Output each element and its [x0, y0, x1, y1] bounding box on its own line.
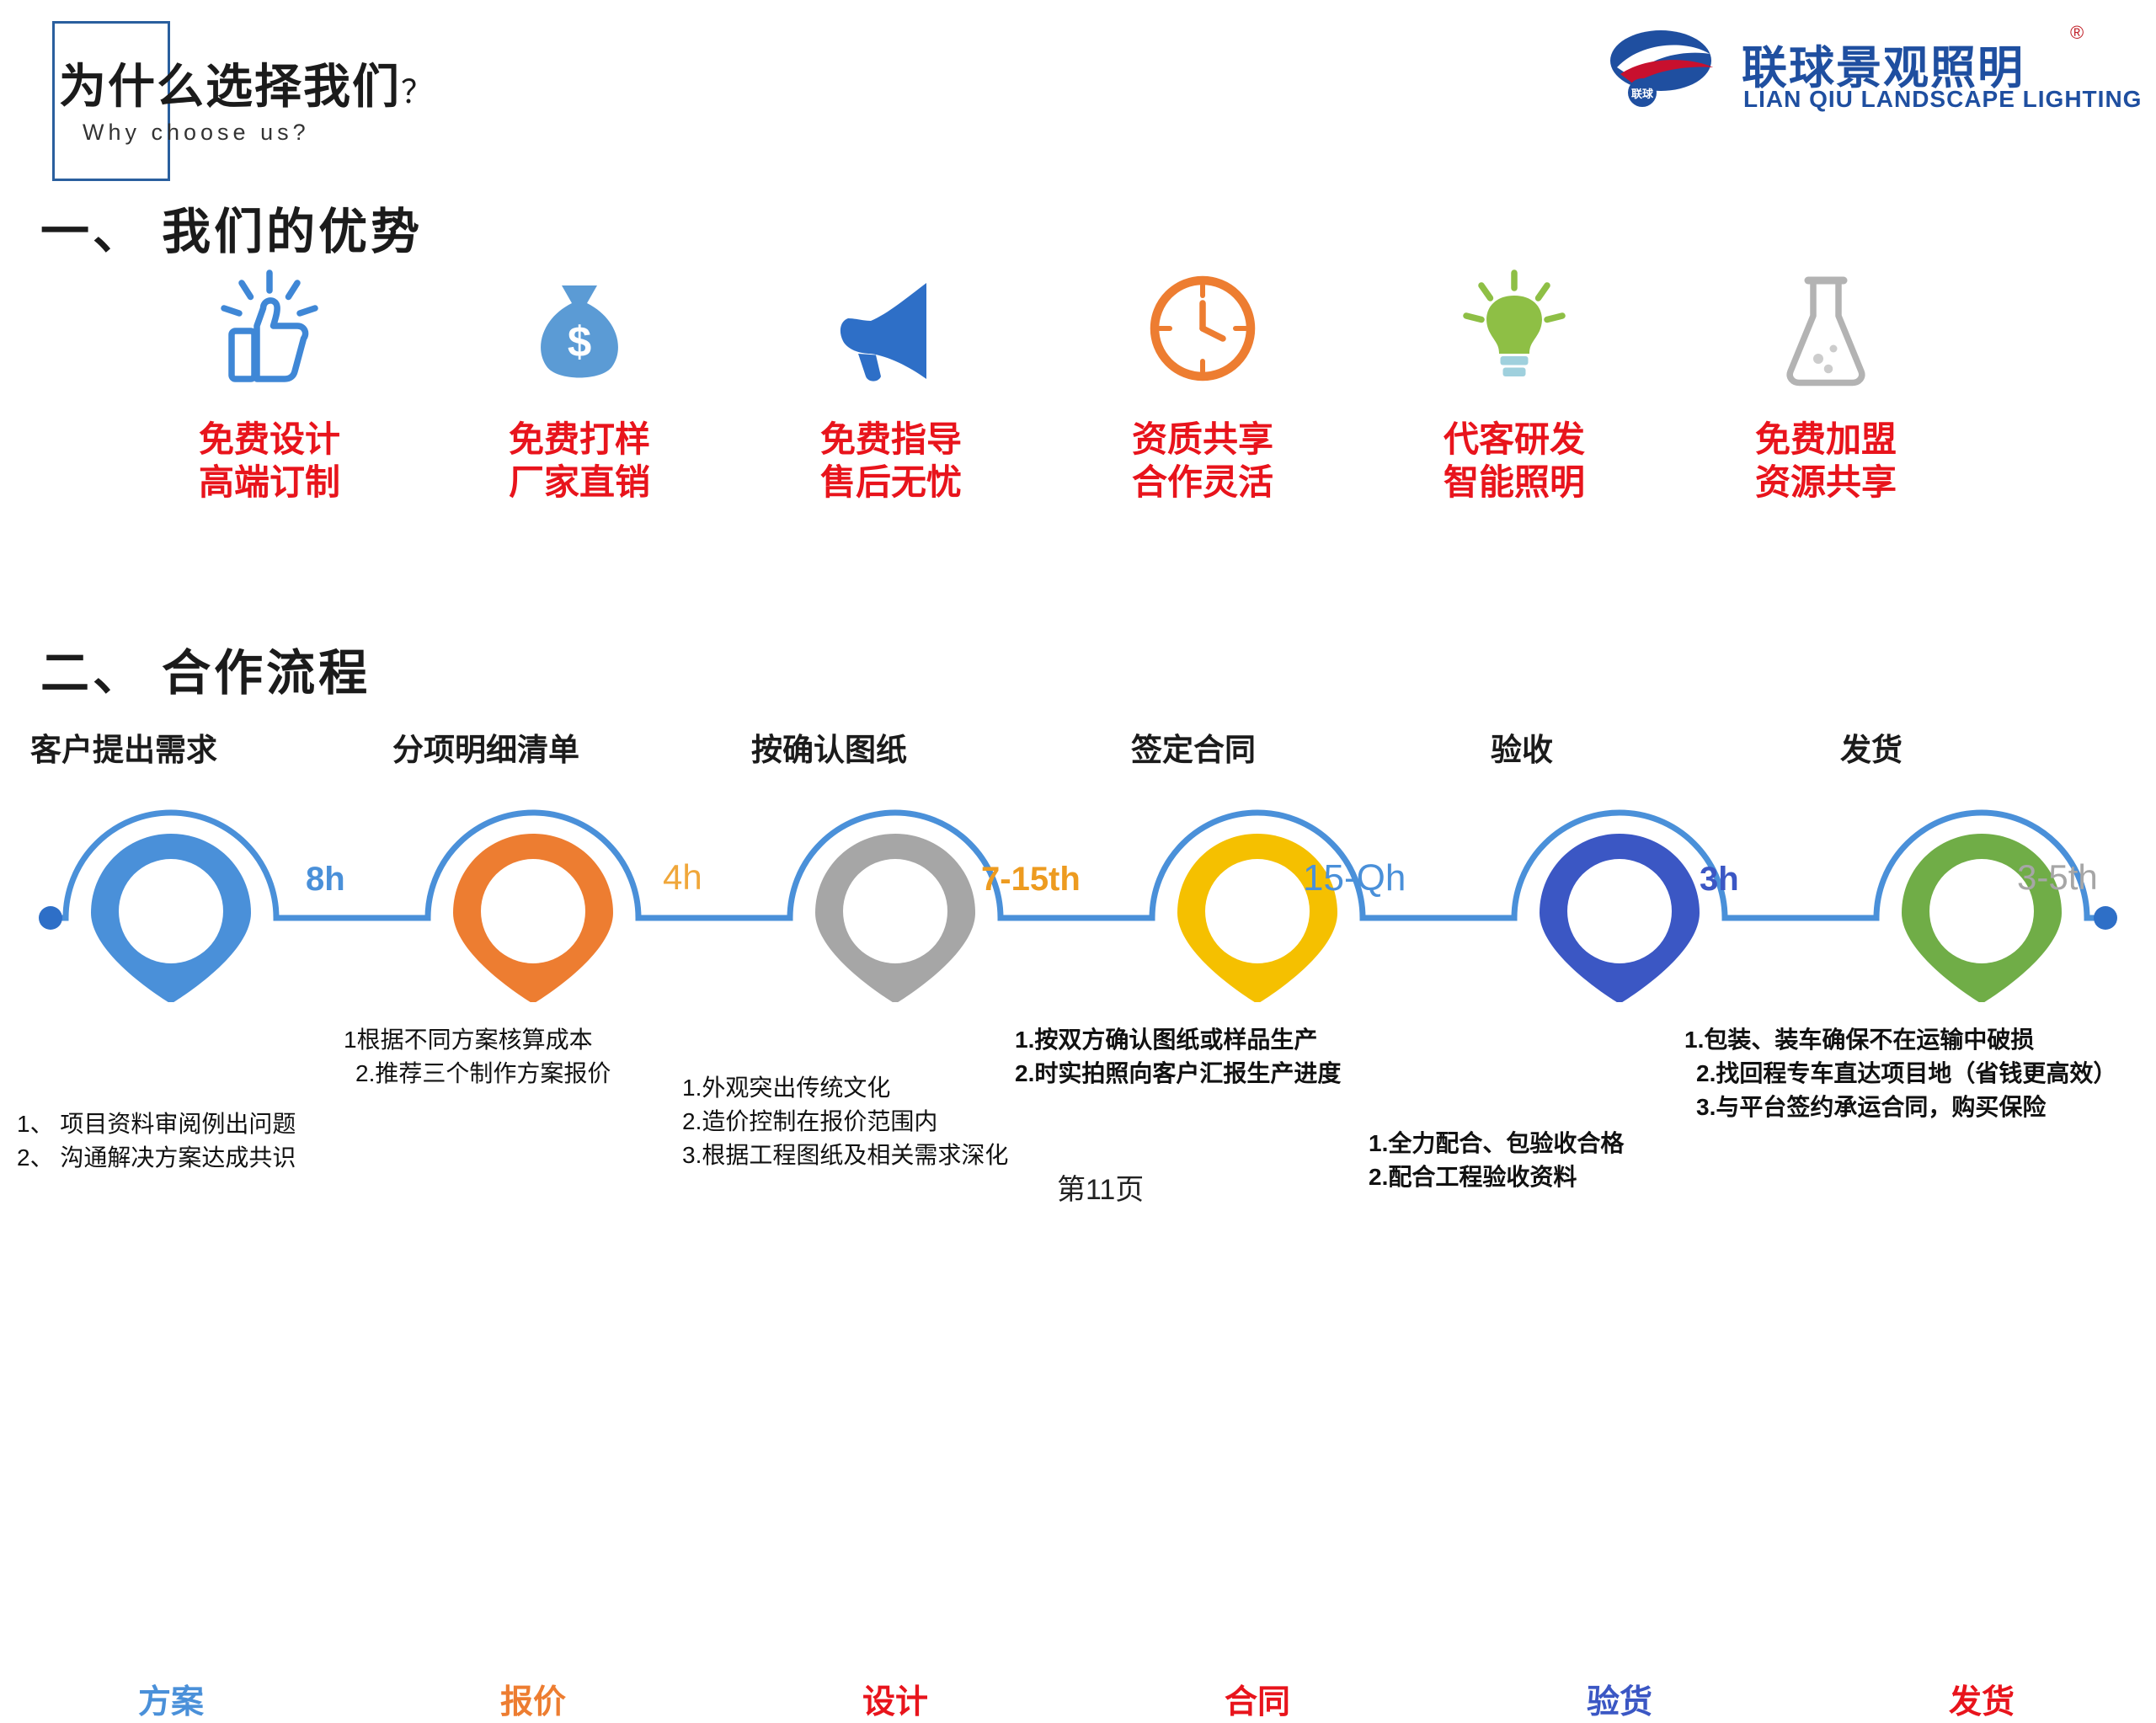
clock-icon: [1076, 261, 1329, 396]
process-note-line: 2.造价控制在报价范围内: [682, 1105, 1008, 1139]
page-title-text: 为什么选择我们: [59, 60, 401, 113]
advantage-line1: 免费加盟: [1700, 418, 1952, 461]
advantage-line1: 代客研发: [1388, 418, 1641, 461]
page-title-question-mark: ？: [401, 75, 435, 110]
process-note-line: 1.外观突出传统文化: [682, 1071, 1008, 1105]
section-heading-process: 二、 合作流程: [40, 633, 371, 704]
process-step-label: 发货: [1840, 724, 1903, 770]
advantage-line1: 资质共享: [1076, 418, 1329, 461]
advantage-line1: 免费设计: [143, 418, 396, 461]
advantage-line2: 资源共享: [1700, 461, 1952, 504]
process-pin-label: 发货: [1931, 1676, 2032, 1723]
advantage-line1: 免费指导: [765, 418, 1017, 461]
advantage-line1: 免费打样: [453, 418, 706, 461]
megaphone-icon: [765, 261, 1017, 396]
process-note-line: 1、 项目资料审阅例出问题: [17, 1107, 296, 1141]
process-note-line: 2.配合工程验收资料: [1369, 1160, 1624, 1194]
svg-text:联球: 联球: [1631, 88, 1654, 100]
advantage-item: 免费设计 高端订制: [143, 261, 396, 504]
process-step-label: 签定合同: [1131, 724, 1256, 770]
process-step-label: 验收: [1491, 724, 1553, 770]
thumbs-up-icon: [143, 261, 396, 396]
process-step-label: 分项明细清单: [392, 724, 579, 770]
advantage-item: 免费指导 售后无忧: [765, 261, 1017, 504]
process-note-line: 1.全力配合、包验收合格: [1369, 1127, 1624, 1160]
advantage-item: 代客研发 智能照明: [1388, 261, 1641, 504]
page-title: 为什么选择我们？: [59, 49, 435, 117]
process-note-line: 1根据不同方案核算成本: [344, 1023, 611, 1057]
process-duration: 15-Qh: [1303, 857, 1406, 899]
process-pin-label: 设计: [845, 1676, 946, 1723]
money-bag-icon: $: [453, 261, 706, 396]
advantage-line2: 高端订制: [143, 461, 396, 504]
process-note-line: 2.推荐三个制作方案报价: [344, 1057, 611, 1091]
process-note-line: 2.找回程专车直达项目地（省钱更高效）: [1684, 1057, 2116, 1091]
flask-icon: [1700, 261, 1952, 396]
lightbulb-icon: [1388, 261, 1641, 396]
process-pin-label: 合同: [1207, 1676, 1308, 1723]
process-note-line: 3.与平台签约承运合同，购买保险: [1684, 1091, 2116, 1124]
svg-text:$: $: [568, 317, 591, 365]
logo-company-name-en: LIAN QIU LANDSCAPE LIGHTING: [1743, 86, 2142, 113]
page-subtitle: Why choose us?: [83, 120, 310, 146]
process-pin-label: 方案: [120, 1676, 221, 1723]
process-note: 1根据不同方案核算成本 2.推荐三个制作方案报价: [344, 1023, 611, 1091]
process-note-line: 1.包装、装车确保不在运输中破损: [1684, 1023, 2116, 1057]
advantage-line2: 厂家直销: [453, 461, 706, 504]
page-number: 第11页: [1057, 1166, 1144, 1208]
process-pin-label: 报价: [483, 1676, 584, 1723]
advantages-row: 免费设计 高端订制 $ 免费打样 厂家直销 免费指导 售后无忧: [0, 261, 2156, 539]
logo-swoosh-icon: 联球: [1609, 25, 1735, 109]
process-pin-label: 验货: [1569, 1676, 1670, 1723]
process-duration: 8h: [306, 861, 345, 899]
process-duration: 7-15th: [981, 861, 1081, 899]
process-note-line: 2.时实拍照向客户汇报生产进度: [1015, 1057, 1341, 1091]
process-note: 1.包装、装车确保不在运输中破损 2.找回程专车直达项目地（省钱更高效） 3.与…: [1684, 1023, 2116, 1123]
process-step-labels: 客户提出需求 分项明细清单 按确认图纸 签定合同 验收 发货: [0, 724, 2156, 775]
process-note: 1.按双方确认图纸或样品生产 2.时实拍照向客户汇报生产进度: [1015, 1023, 1341, 1091]
process-duration: 3h: [1700, 861, 1739, 899]
company-logo: 联球 联球景观照明 LIAN QIU LANDSCAPE LIGHTING ®: [1609, 15, 2097, 125]
process-duration: 4h: [663, 857, 702, 898]
process-note: 1、 项目资料审阅例出问题 2、 沟通解决方案达成共识: [17, 1107, 296, 1175]
section-heading-advantages: 一、 我们的优势: [40, 192, 423, 263]
registered-trademark-icon: ®: [2070, 22, 2084, 44]
process-step-label: 客户提出需求: [30, 724, 217, 770]
advantage-item: 免费加盟 资源共享: [1700, 261, 1952, 504]
process-step-label: 按确认图纸: [751, 724, 907, 770]
advantage-line2: 合作灵活: [1076, 461, 1329, 504]
process-note: 1.全力配合、包验收合格 2.配合工程验收资料: [1369, 1127, 1624, 1194]
process-note: 1.外观突出传统文化 2.造价控制在报价范围内 3.根据工程图纸及相关需求深化: [682, 1071, 1008, 1171]
process-note-line: 1.按双方确认图纸或样品生产: [1015, 1023, 1341, 1057]
process-duration: 3-5th: [2017, 857, 2098, 898]
process-note-line: 2、 沟通解决方案达成共识: [17, 1141, 296, 1175]
advantage-line2: 智能照明: [1388, 461, 1641, 504]
advantage-item: $ 免费打样 厂家直销: [453, 261, 706, 504]
process-note-line: 3.根据工程图纸及相关需求深化: [682, 1139, 1008, 1172]
advantage-line2: 售后无忧: [765, 461, 1017, 504]
advantage-item: 资质共享 合作灵活: [1076, 261, 1329, 504]
